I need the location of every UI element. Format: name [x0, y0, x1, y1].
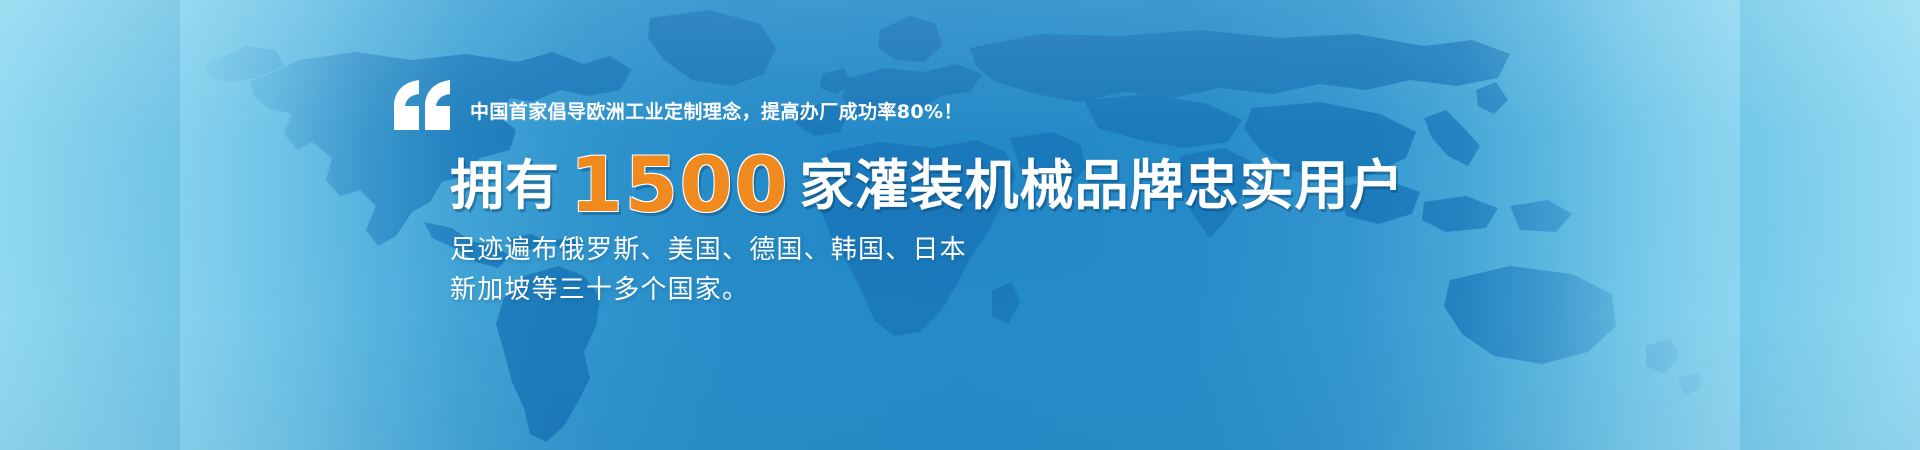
quote-mark-icon [392, 80, 454, 130]
promo-banner: 中国首家倡导欧洲工业定制理念，提高办厂成功率80%！ 拥有1500家灌装机械品牌… [0, 0, 1920, 450]
subtitle-line-1: 足迹遍布俄罗斯、美国、德国、韩国、日本 [450, 230, 967, 270]
banner-subtitle: 足迹遍布俄罗斯、美国、德国、韩国、日本 新加坡等三十多个国家。 [450, 230, 967, 310]
subtitle-line-2: 新加坡等三十多个国家。 [450, 270, 967, 310]
quote-row: 中国首家倡导欧洲工业定制理念，提高办厂成功率80%！ [392, 78, 963, 130]
headline-highlight-number: 1500 [560, 140, 800, 229]
banner-headline: 拥有1500家灌装机械品牌忠实用户 [450, 147, 1405, 223]
banner-subheading-quote: 中国首家倡导欧洲工业定制理念，提高办厂成功率80%！ [470, 103, 963, 122]
banner-content: 中国首家倡导欧洲工业定制理念，提高办厂成功率80%！ 拥有1500家灌装机械品牌… [0, 0, 1920, 450]
headline-prefix: 拥有 [450, 154, 560, 217]
headline-suffix: 家灌装机械品牌忠实用户 [800, 154, 1405, 217]
